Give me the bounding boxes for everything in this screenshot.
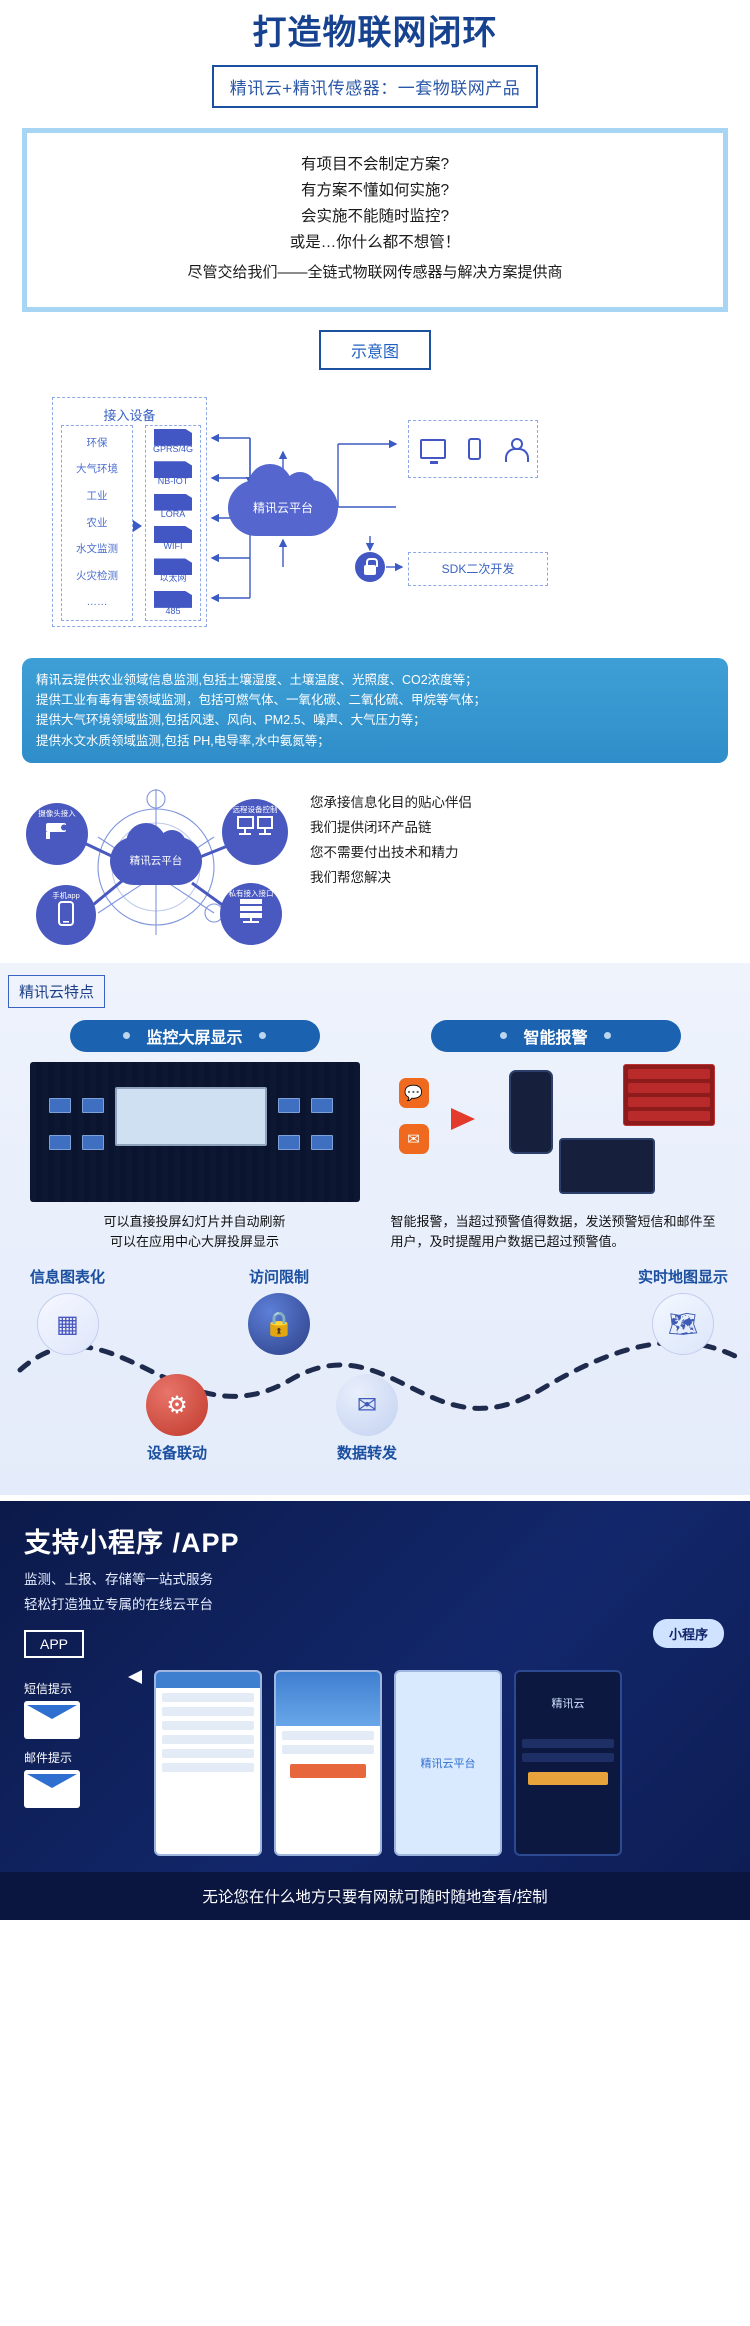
chat-icon: 💬 [399, 1078, 429, 1108]
dot-icon [259, 1032, 266, 1039]
monitor-icon [278, 1135, 300, 1150]
miniprogram-tag: 小程序 [653, 1619, 724, 1648]
curve-node-title: 实时地图显示 [638, 1266, 728, 1287]
cloud-platform-label: 精讯云平台 [228, 480, 338, 536]
chip-icon [154, 429, 192, 446]
dot-icon [500, 1032, 507, 1039]
monitor-icon [82, 1098, 104, 1113]
phone-device [509, 1070, 553, 1154]
chip-icon [154, 461, 192, 478]
app-row [162, 1721, 254, 1730]
feature-description: 可以直接投屏幻灯片并自动刷新 可以在应用中心大屏投屏显示 [30, 1212, 360, 1252]
person-icon [504, 438, 526, 460]
lock-icon [355, 552, 385, 582]
terminal-devices-group [408, 420, 538, 478]
cloud-platform-node: 精讯云平台 [228, 480, 338, 536]
control-room-photo [30, 1062, 360, 1202]
pitch-line: 我们帮您解决 [310, 866, 472, 891]
gears-glyph: ⚙ [166, 1391, 188, 1420]
feature-caption: 监控大屏显示 [146, 1024, 242, 1048]
app-row [162, 1749, 254, 1758]
chip-icon [154, 591, 192, 608]
phone-icon [468, 438, 481, 460]
flow-arrow-wrap [128, 1670, 142, 1684]
flow-arrow-icon [451, 1108, 475, 1130]
alarm-panel [623, 1064, 715, 1126]
protocol-chip: LORA [151, 494, 195, 520]
app-row [162, 1707, 254, 1716]
map-glyph: 🗺 [668, 1310, 698, 1339]
info-line: 提供大气环境领域监测,包括风速、风向、PM2.5、噪声、大气压力等； [36, 710, 714, 730]
curve-node-data-forward: ✉ 数据转发 [336, 1368, 398, 1463]
industry-list: 环保 大气环境 工业 农业 水文监测 火灾检测 …… [61, 425, 133, 621]
data-forward-icon: ✉ [336, 1374, 398, 1436]
protocol-label: 以太网 [151, 574, 195, 584]
hub-node-mobile-app: 手机app [36, 885, 96, 945]
curve-node-title: 访问限制 [248, 1266, 310, 1287]
app-screenshot-list [154, 1670, 262, 1856]
hub-center-cloud: 精讯云平台 [110, 837, 202, 885]
hero-subtitle: 精讯云+精讯传感器：一套物联网产品 [212, 65, 538, 108]
email-label: 邮件提示 [24, 1749, 116, 1766]
app-profile-header [276, 1672, 380, 1726]
hub-node-label: 远程设备控制 [222, 799, 288, 814]
protocol-label: NB-IOT [151, 477, 195, 487]
app-row [282, 1745, 374, 1754]
curve-node-map: 实时地图显示 🗺 [638, 1266, 728, 1355]
feature-caption: 智能报警 [523, 1024, 587, 1048]
projection-screen [115, 1087, 267, 1146]
pitch-line: 您不需要付出技术和精力 [310, 841, 472, 866]
questions-closing: 尽管交给我们——全链式物联网传感器与解决方案提供商 [37, 265, 713, 282]
hub-node-camera: 摄像头接入 [26, 803, 88, 865]
monitor-icon [49, 1098, 71, 1113]
footer-title: 支持小程序 /APP [24, 1521, 726, 1560]
feature-smart-alarm: 智能报警 💬 ✉ 智能报警，当超过预警值得数据，发送 [391, 1020, 721, 1252]
monitor-icon [278, 1098, 300, 1113]
chip-icon [154, 494, 192, 511]
protocol-chip: 以太网 [151, 558, 195, 584]
chip-icon [154, 526, 192, 543]
email-icon [24, 1770, 80, 1808]
monitor-icon [420, 439, 446, 459]
industry-item: 火灾检测 [76, 571, 118, 582]
alarm-row [628, 1083, 710, 1093]
question-line: 有方案不懂如何实施? [37, 182, 713, 199]
chip-icon [154, 558, 192, 575]
sdk-box: SDK二次开发 [408, 552, 548, 586]
map-icon: 🗺 [652, 1293, 714, 1355]
protocol-list: GPRS/4G NB-IOT LORA WIFI 以太网 [145, 425, 201, 621]
app-screenshot-dark: 精讯云 [514, 1670, 622, 1856]
app-status-bar [156, 1672, 260, 1688]
features-band-tag: 精讯云特点 [8, 975, 105, 1008]
sdk-label: SDK二次开发 [442, 560, 515, 577]
footer-bottom-bar: 无论您在什么地方只要有网就可随时随地查看/控制 [0, 1872, 750, 1920]
tablet-device [559, 1138, 655, 1194]
feature-caption-pill: 监控大屏显示 [70, 1020, 320, 1052]
dark-app-button[interactable] [528, 1772, 608, 1785]
industry-item: 环保 [87, 438, 108, 449]
page-title: 打造物联网闭环 [0, 14, 750, 53]
app-row [282, 1731, 374, 1740]
forward-glyph: ✉ [357, 1391, 377, 1420]
diagram-pill-wrap: 示意图 [0, 330, 750, 370]
hub-node-label: 私有接入接口 [220, 883, 282, 898]
footer-subtitle: 监测、上报、存储等一站式服务 轻松打造独立专属的在线云平台 [24, 1568, 726, 1618]
infographic-page: 打造物联网闭环 精讯云+精讯传感器：一套物联网产品 有项目不会制定方案? 有方案… [0, 0, 750, 1920]
info-line: 提供水文水质领域监测,包括 PH,电导率,水中氨氮等； [36, 731, 714, 751]
app-row [162, 1763, 254, 1772]
curve-node-title: 信息图表化 [30, 1266, 105, 1287]
monitor-icon [311, 1135, 333, 1150]
question-line: 或是…你什么都不想管！ [37, 234, 713, 251]
protocol-chip: 485 [151, 591, 195, 617]
feature-monitor-display: 监控大屏显示 可以直接投屏幻灯片并自动刷新 可以在应用中心大屏投屏显示 [30, 1020, 360, 1252]
dot-icon [604, 1032, 611, 1039]
protocol-chip: GPRS/4G [151, 429, 195, 455]
access-devices-group: 接入设备 环保 大气环境 工业 农业 水文监测 火灾检测 …… GPRS/4G … [52, 397, 207, 627]
hub-node-private-api: 私有接入接口 [220, 883, 282, 945]
info-line: 精讯云提供农业领域信息监测,包括土壤湿度、土壤温度、光照度、CO2浓度等； [36, 670, 714, 690]
hub-center-label: 精讯云平台 [110, 837, 202, 885]
curve-node-access: 访问限制 🔒 [248, 1266, 310, 1355]
footer-sub-line: 轻松打造独立专属的在线云平台 [24, 1593, 726, 1618]
hero-subtitle-wrap: 精讯云+精讯传感器：一套物联网产品 [0, 65, 750, 108]
capability-curve-section: 信息图表化 ▦ 访问限制 🔒 实时地图显示 🗺 ⚙ [0, 1260, 750, 1475]
alarm-row [628, 1069, 710, 1079]
sms-icon [24, 1701, 80, 1739]
hub-node-label: 手机app [36, 885, 96, 900]
gears-icon: ⚙ [146, 1374, 208, 1436]
architecture-diagram: 接入设备 环保 大气环境 工业 农业 水文监测 火灾检测 …… GPRS/4G … [0, 392, 750, 642]
monitor-icon [311, 1098, 333, 1113]
chart-icon: ▦ [37, 1293, 99, 1355]
app-primary-button[interactable] [290, 1764, 366, 1778]
remote-devices-icon [235, 815, 275, 837]
dot-icon [123, 1032, 130, 1039]
pitch-line: 我们提供闭环产品链 [310, 816, 472, 841]
dark-app-label: 精讯云 [552, 1695, 585, 1711]
arrow-left-icon [128, 1670, 142, 1684]
flow-arrow-icon [133, 520, 142, 532]
feature-description: 智能报警，当超过预警值得数据，发送预警短信和邮件至用户，及时提醒用户数据已超过预… [391, 1212, 721, 1252]
industry-item: 水文监测 [76, 544, 118, 555]
app-screenshot-profile [274, 1670, 382, 1856]
question-line: 有项目不会制定方案? [37, 156, 713, 173]
industry-item: 工业 [87, 491, 108, 502]
sms-label: 短信提示 [24, 1680, 116, 1697]
notify-column: 短信提示 邮件提示 [24, 1670, 116, 1808]
chart-glyph: ▦ [56, 1310, 79, 1339]
cloud-watermark-label: 精讯云平台 [421, 1755, 476, 1771]
monitor-icon [49, 1135, 71, 1150]
feature-caption-pill: 智能报警 [431, 1020, 681, 1052]
curve-node-title: 设备联动 [146, 1442, 208, 1463]
curve-node-device-linkage: ⚙ 设备联动 [146, 1368, 208, 1463]
lock-shield-icon: 🔒 [248, 1293, 310, 1355]
app-tag: APP [24, 1630, 84, 1658]
features-row: 监控大屏显示 可以直接投屏幻灯片并自动刷新 可以在应用中心大屏投屏显示 [0, 1020, 750, 1252]
hub-diagram: 摄像头接入 远程设备控制 手机app [14, 785, 294, 945]
hub-node-label: 摄像头接入 [26, 803, 88, 818]
monitor-icon [82, 1135, 104, 1150]
curve-node-charts: 信息图表化 ▦ [30, 1266, 105, 1355]
capability-info-card: 精讯云提供农业领域信息监测,包括土壤湿度、土壤温度、光照度、CO2浓度等； 提供… [22, 658, 728, 763]
cloud-watermark: 精讯云平台 [396, 1672, 500, 1854]
footer-section: 支持小程序 /APP 监测、上报、存储等一站式服务 轻松打造独立专属的在线云平台… [0, 1501, 750, 1920]
lock-glyph: 🔒 [264, 1310, 294, 1339]
app-row [522, 1739, 614, 1748]
hero-section: 打造物联网闭环 精讯云+精讯传感器：一套物联网产品 [0, 0, 750, 108]
hub-node-remote: 远程设备控制 [222, 799, 288, 865]
question-line: 会实施不能随时监控? [37, 208, 713, 225]
dark-app-title: 精讯云 [516, 1672, 620, 1734]
info-line: 提供工业有毒有害领域监测，包括可燃气体、一氧化碳、二氧化硫、甲烷等气体； [36, 690, 714, 710]
diagram-pill: 示意图 [319, 330, 431, 370]
protocol-label: LORA [151, 510, 195, 520]
camera-icon [40, 819, 74, 841]
footer-sub-line: 监测、上报、存储等一站式服务 [24, 1568, 726, 1593]
questions-box: 有项目不会制定方案? 有方案不懂如何实施? 会实施不能随时监控? 或是…你什么都… [22, 128, 728, 312]
hub-and-pitch-row: 摄像头接入 远程设备控制 手机app [0, 785, 750, 945]
protocol-label: GPRS/4G [151, 445, 195, 455]
pitch-text: 您承接信息化目的贴心伴侣 我们提供闭环产品链 您不需要付出技术和精力 我们帮您解… [294, 785, 472, 945]
alarm-row [628, 1097, 710, 1107]
app-screenshot-cloud: 精讯云平台 [394, 1670, 502, 1856]
alarm-illustration: 💬 ✉ [391, 1062, 721, 1202]
app-row [522, 1753, 614, 1762]
industry-item: 农业 [87, 518, 108, 529]
mobile-app-icon [57, 901, 75, 927]
features-band: 精讯云特点 监控大屏显示 [0, 963, 750, 1495]
alarm-row [628, 1111, 710, 1121]
mail-icon: ✉ [399, 1124, 429, 1154]
industry-item: 大气环境 [76, 464, 118, 475]
app-row [162, 1735, 254, 1744]
protocol-label: WIFI [151, 542, 195, 552]
app-row [162, 1693, 254, 1702]
pitch-line: 您承接信息化目的贴心伴侣 [310, 791, 472, 816]
industry-item: …… [87, 597, 108, 608]
protocol-chip: WIFI [151, 526, 195, 552]
server-icon [236, 898, 266, 924]
protocol-label: 485 [151, 607, 195, 617]
curve-node-title: 数据转发 [336, 1442, 398, 1463]
protocol-chip: NB-IOT [151, 461, 195, 487]
